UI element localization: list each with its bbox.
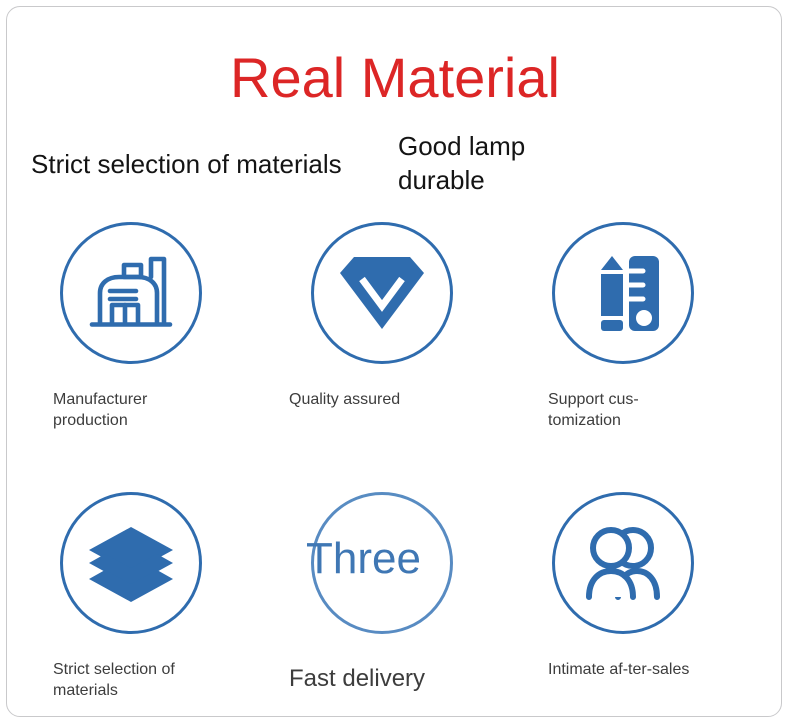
two-people-icon (579, 525, 667, 601)
factory-icon (88, 253, 174, 333)
feature-item-customization[interactable]: Support cus-tomization (506, 222, 759, 492)
diamond-gem-icon (336, 251, 428, 335)
feature-label: Strict selection of materials (53, 659, 213, 701)
icon-circle: Three (311, 492, 453, 634)
three-text-icon: Three (306, 533, 466, 585)
icon-circle (60, 492, 202, 634)
subtitle-good-lamp: Good lamp durable (398, 129, 598, 197)
feature-item-fast-delivery[interactable]: Three Fast delivery (253, 492, 506, 725)
feature-label: Intimate af-ter-sales (548, 659, 708, 680)
feature-item-after-sales[interactable]: Intimate af-ter-sales (506, 492, 759, 725)
feature-label: Manufacturer production (53, 389, 213, 431)
product-feature-banner: Real Material Strict selection of materi… (0, 0, 790, 725)
icon-circle (552, 492, 694, 634)
icon-circle (311, 222, 453, 364)
layers-stack-icon (85, 523, 177, 603)
feature-row: Strict selection of materials Three Fast… (0, 492, 790, 725)
subtitle-strict-selection: Strict selection of materials (31, 148, 342, 180)
feature-label: Fast delivery (289, 665, 499, 693)
pencil-ruler-icon (583, 252, 663, 334)
feature-item-strict-selection[interactable]: Strict selection of materials (0, 492, 253, 725)
feature-item-quality[interactable]: Quality assured (253, 222, 506, 492)
page-title: Real Material (0, 47, 790, 109)
feature-grid: Manufacturer production Quality assured (0, 222, 790, 725)
icon-circle (552, 222, 694, 364)
icon-circle (60, 222, 202, 364)
feature-row: Manufacturer production Quality assured (0, 222, 790, 492)
feature-label: Quality assured (289, 389, 449, 410)
feature-label: Support cus-tomization (548, 389, 708, 431)
feature-item-manufacturer[interactable]: Manufacturer production (0, 222, 253, 492)
